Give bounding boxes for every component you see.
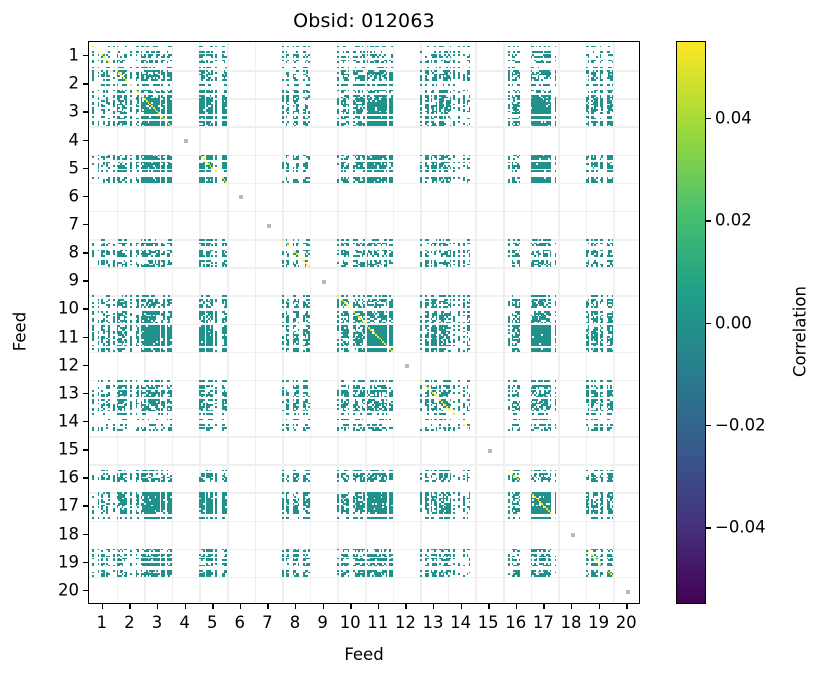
heatmap-axes[interactable] bbox=[88, 41, 640, 604]
figure-canvas: Obsid: 012063 12345678910111213141516171… bbox=[0, 0, 825, 678]
page-title: Obsid: 012063 bbox=[0, 10, 728, 32]
heatmap-plot-area[interactable] bbox=[89, 42, 639, 603]
